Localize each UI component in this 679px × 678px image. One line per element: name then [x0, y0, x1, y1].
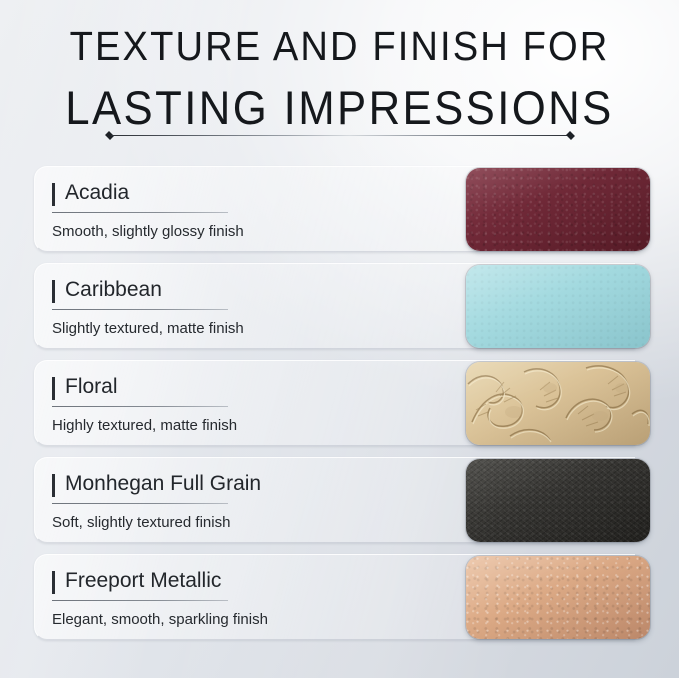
row-description: Elegant, smooth, sparkling finish [52, 610, 432, 629]
monhegan-full-grain-swatch[interactable] [466, 459, 650, 542]
row-underline [52, 212, 228, 213]
row-underline [52, 309, 228, 310]
list-item[interactable]: Acadia Smooth, slightly glossy finish [0, 166, 679, 252]
row-text: Floral Highly textured, matte finish [52, 374, 432, 435]
swatch-gloss [466, 459, 650, 542]
header: TEXTURE AND FINISH FOR LASTING IMPRESSIO… [0, 0, 679, 131]
swatch-list: Acadia Smooth, slightly glossy finish Ca… [0, 166, 679, 651]
row-title: Freeport Metallic [65, 568, 432, 594]
row-underline [52, 406, 228, 407]
page-title-line-2: LASTING IMPRESSIONS [24, 84, 655, 131]
row-text: Monhegan Full Grain Soft, slightly textu… [52, 471, 432, 532]
page-title-line-1: TEXTURE AND FINISH FOR [24, 26, 655, 67]
accent-bar-icon [52, 280, 55, 303]
list-item[interactable]: Freeport Metallic Elegant, smooth, spark… [0, 554, 679, 640]
infographic-canvas: TEXTURE AND FINISH FOR LASTING IMPRESSIO… [0, 0, 679, 678]
swatch-gloss [466, 168, 650, 251]
accent-bar-icon [52, 377, 55, 400]
swatch-gloss [466, 265, 650, 348]
row-description: Smooth, slightly glossy finish [52, 222, 432, 241]
freeport-metallic-swatch[interactable] [466, 556, 650, 639]
accent-bar-icon [52, 183, 55, 206]
row-description: Slightly textured, matte finish [52, 319, 432, 338]
row-title: Floral [65, 374, 432, 400]
row-description: Soft, slightly textured finish [52, 513, 432, 532]
row-title: Monhegan Full Grain [65, 471, 432, 497]
list-item[interactable]: Caribbean Slightly textured, matte finis… [0, 263, 679, 349]
row-text: Freeport Metallic Elegant, smooth, spark… [52, 568, 432, 629]
swatch-gloss [466, 362, 650, 445]
acadia-swatch[interactable] [466, 168, 650, 251]
list-item[interactable]: Floral Highly textured, matte finish [0, 360, 679, 446]
row-title: Caribbean [65, 277, 432, 303]
row-text: Caribbean Slightly textured, matte finis… [52, 277, 432, 338]
row-underline [52, 600, 228, 601]
floral-swatch[interactable] [466, 362, 650, 445]
divider-rule [111, 135, 569, 136]
row-underline [52, 503, 228, 504]
caribbean-swatch[interactable] [466, 265, 650, 348]
list-item[interactable]: Monhegan Full Grain Soft, slightly textu… [0, 457, 679, 543]
diamond-right-icon [566, 131, 575, 140]
title-divider [105, 131, 575, 140]
accent-bar-icon [52, 571, 55, 594]
swatch-gloss [466, 556, 650, 639]
row-description: Highly textured, matte finish [52, 416, 432, 435]
row-title: Acadia [65, 180, 432, 206]
row-text: Acadia Smooth, slightly glossy finish [52, 180, 432, 241]
accent-bar-icon [52, 474, 55, 497]
